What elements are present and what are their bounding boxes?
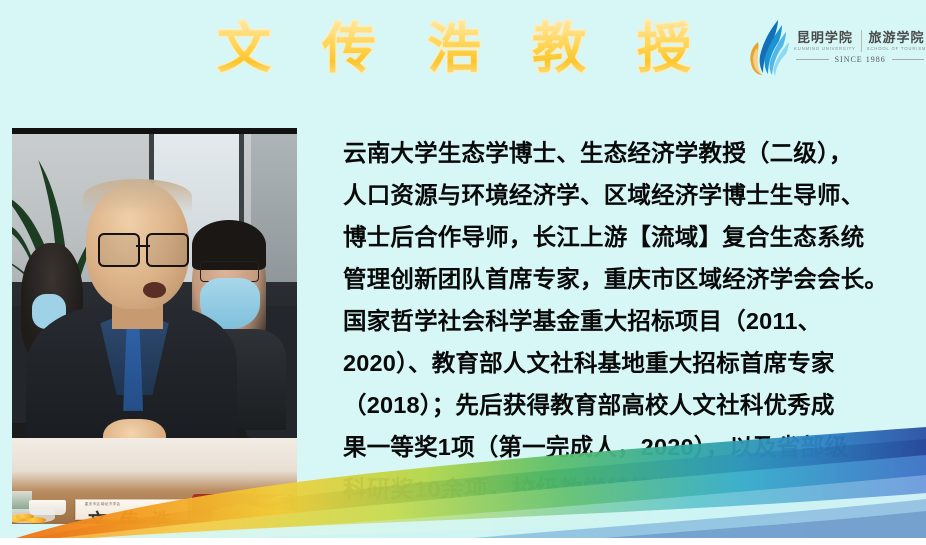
logo-text-block: 昆明学院 KUNMING UNIVERSITY 旅游学院 SCHOOL OF T… bbox=[790, 30, 926, 64]
logo-since-line-left bbox=[796, 59, 829, 60]
bio-line: 云南大学生态学博士、生态经济学教授（二级）， bbox=[343, 132, 919, 174]
logo-cn-primary: 昆明学院 bbox=[794, 30, 856, 45]
photo-yellow-box bbox=[211, 510, 297, 524]
speaker-bio: 云南大学生态学博士、生态经济学教授（二级）， 人口资源与环境经济学、区域经济学博… bbox=[343, 132, 919, 510]
photo-orange-fruit bbox=[16, 514, 34, 519]
photo-table: 重庆市区域经济学会 文 传 浩 THINGS HAPPEN bbox=[12, 438, 297, 524]
logo-secondary: 旅游学院 SCHOOL OF TOURISM bbox=[867, 30, 926, 52]
logo-en-secondary: SCHOOL OF TOURISM bbox=[867, 45, 926, 52]
bio-line: 2020）、教育部人文社科基地重大招标首席专家 bbox=[343, 342, 919, 384]
photo-fruit-bowl bbox=[12, 509, 55, 523]
bio-line: 人口资源与环境经济学、区域经济学博士生导师、 bbox=[343, 174, 919, 216]
speaker-hair bbox=[83, 179, 191, 214]
logo-since-row: SINCE 1986 bbox=[794, 55, 926, 64]
speaker-lens-left bbox=[98, 233, 140, 266]
bio-line: 国家哲学社会科学基金重大招标项目（2011、 bbox=[343, 300, 919, 342]
speaker-mouth bbox=[143, 282, 166, 298]
speaker-glasses-icon bbox=[98, 233, 189, 262]
logo-cn-secondary: 旅游学院 bbox=[867, 30, 926, 45]
logo-since-line-right bbox=[892, 59, 925, 60]
bio-line: 科研奖10余项，校级教学特等奖1项。 bbox=[343, 468, 919, 510]
bio-line: 果一等奖1项（第一完成人，2020），以及省部级 bbox=[343, 426, 919, 468]
speaker-photo: 重庆市区域经济学会 文 传 浩 THINGS HAPPEN bbox=[12, 128, 297, 524]
logo-names-row: 昆明学院 KUNMING UNIVERSITY 旅游学院 SCHOOL OF T… bbox=[794, 30, 926, 52]
bio-line: 博士后合作导师，长江上游【流域】复合生态系统 bbox=[343, 216, 919, 258]
bio-line: 管理创新团队首席专家，重庆市区域经济学会会长。 bbox=[343, 258, 919, 300]
speaker-photo-scene: 重庆市区域经济学会 文 传 浩 THINGS HAPPEN bbox=[12, 134, 297, 524]
speaker-nameplate: 重庆市区域经济学会 文 传 浩 bbox=[75, 499, 188, 520]
logo-since-text: SINCE 1986 bbox=[829, 55, 892, 64]
logo-en-primary: KUNMING UNIVERSITY bbox=[794, 45, 856, 52]
feather-flame-icon bbox=[748, 18, 790, 76]
logo-primary: 昆明学院 KUNMING UNIVERSITY bbox=[794, 30, 856, 52]
bio-line: （2018）；先后获得教育部高校人文社科优秀成 bbox=[343, 384, 919, 426]
slide-canvas: 文 传 浩 教 授 文 传 浩 教 授 昆明学院 KUNMING UNIVERS… bbox=[0, 0, 926, 545]
university-logo: 昆明学院 KUNMING UNIVERSITY 旅游学院 SCHOOL OF T… bbox=[748, 14, 920, 80]
speaker-lens-right bbox=[146, 233, 188, 266]
nameplate-name: 文 传 浩 bbox=[76, 506, 187, 524]
bottom-white-bar bbox=[0, 538, 926, 545]
logo-divider bbox=[861, 30, 862, 52]
speaker-glasses-bridge bbox=[136, 245, 151, 248]
